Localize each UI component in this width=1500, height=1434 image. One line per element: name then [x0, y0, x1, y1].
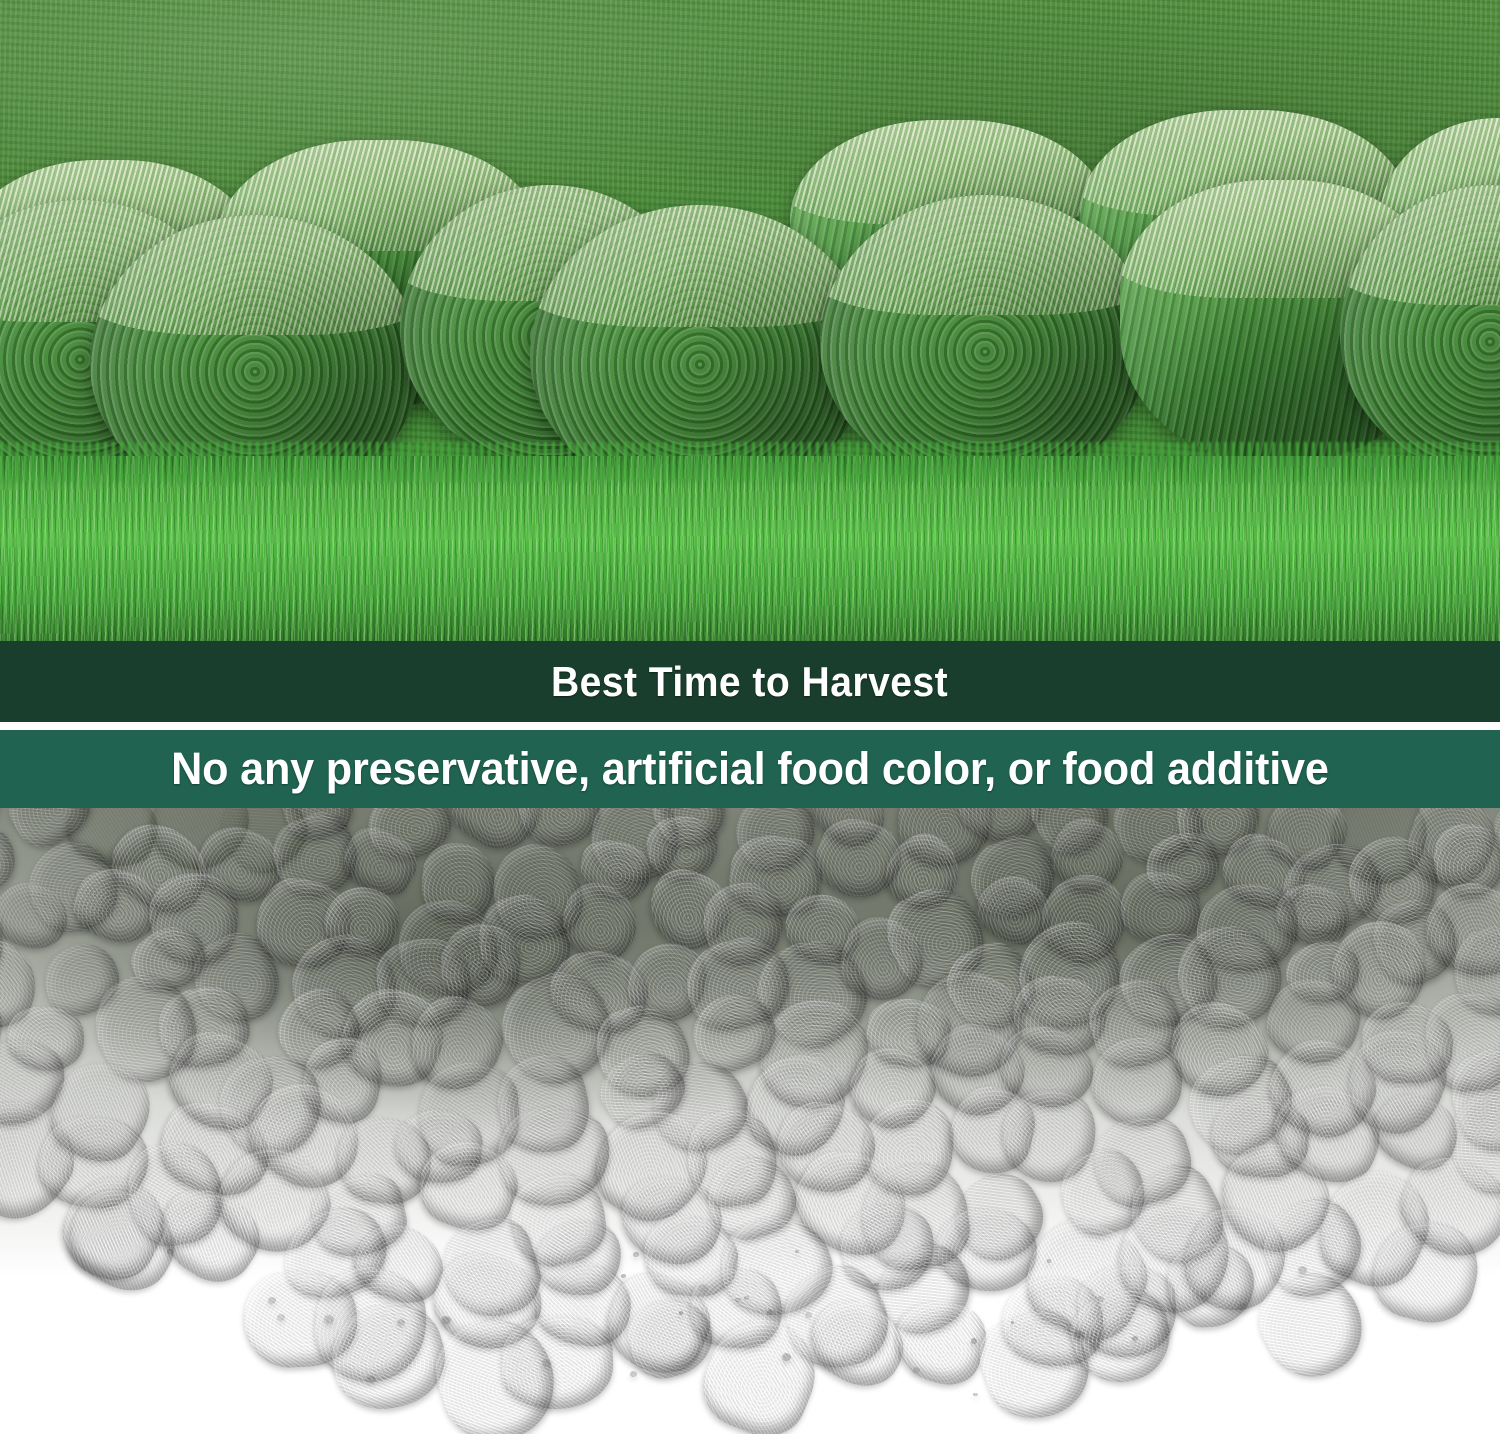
hay-bales-field-photo: [0, 0, 1500, 641]
hay-pellet-crumb: [366, 1375, 376, 1383]
hay-pellet-crumb: [1047, 1259, 1051, 1262]
hay-bale: [1340, 185, 1500, 470]
hay-pellet-crumb: [542, 1359, 551, 1367]
cut-grass-stubble: [0, 456, 1500, 641]
pellet-pile: [0, 808, 1500, 1434]
hay-pellet-crumb: [973, 1393, 978, 1397]
hay-pellet-crumb: [874, 1283, 878, 1287]
no-preservative-banner: No any preservative, artificial food col…: [0, 730, 1500, 808]
hay-pellet-crumb: [630, 1371, 637, 1377]
hay-pellet-crumb: [1091, 1342, 1098, 1348]
hay-pellet-crumb: [782, 1353, 791, 1360]
hay-pellet: [1167, 1242, 1256, 1330]
product-infographic-page: Best Time to Harvest No any preservative…: [0, 0, 1500, 1434]
hay-pellet-crumb: [500, 1308, 504, 1311]
hay-pellet-crumb: [633, 1252, 639, 1257]
alfalfa-pellets-photo: [0, 808, 1500, 1434]
hay-pellet-crumb: [795, 1250, 799, 1253]
hay-pellet-crumb: [744, 1296, 748, 1300]
best-time-to-harvest-banner: Best Time to Harvest: [0, 641, 1500, 722]
hay-bale: [820, 195, 1150, 480]
hay-pellet-crumb: [679, 1311, 683, 1315]
hay-pellet-crumb: [1203, 1296, 1206, 1299]
hay-pellet-crumb: [397, 1319, 406, 1326]
no-preservative-text: No any preservative, artificial food col…: [171, 743, 1329, 795]
white-divider: [0, 722, 1500, 730]
hay-pellet: [1121, 872, 1200, 945]
best-time-to-harvest-text: Best Time to Harvest: [551, 658, 948, 706]
hay-pellet-crumb: [167, 1249, 174, 1255]
hay-pellet-crumb: [324, 1315, 334, 1324]
hay-pellet-crumb: [1132, 1336, 1138, 1341]
hay-pellet-crumb: [277, 1314, 285, 1321]
hay-pellet-crumb: [268, 1297, 276, 1304]
